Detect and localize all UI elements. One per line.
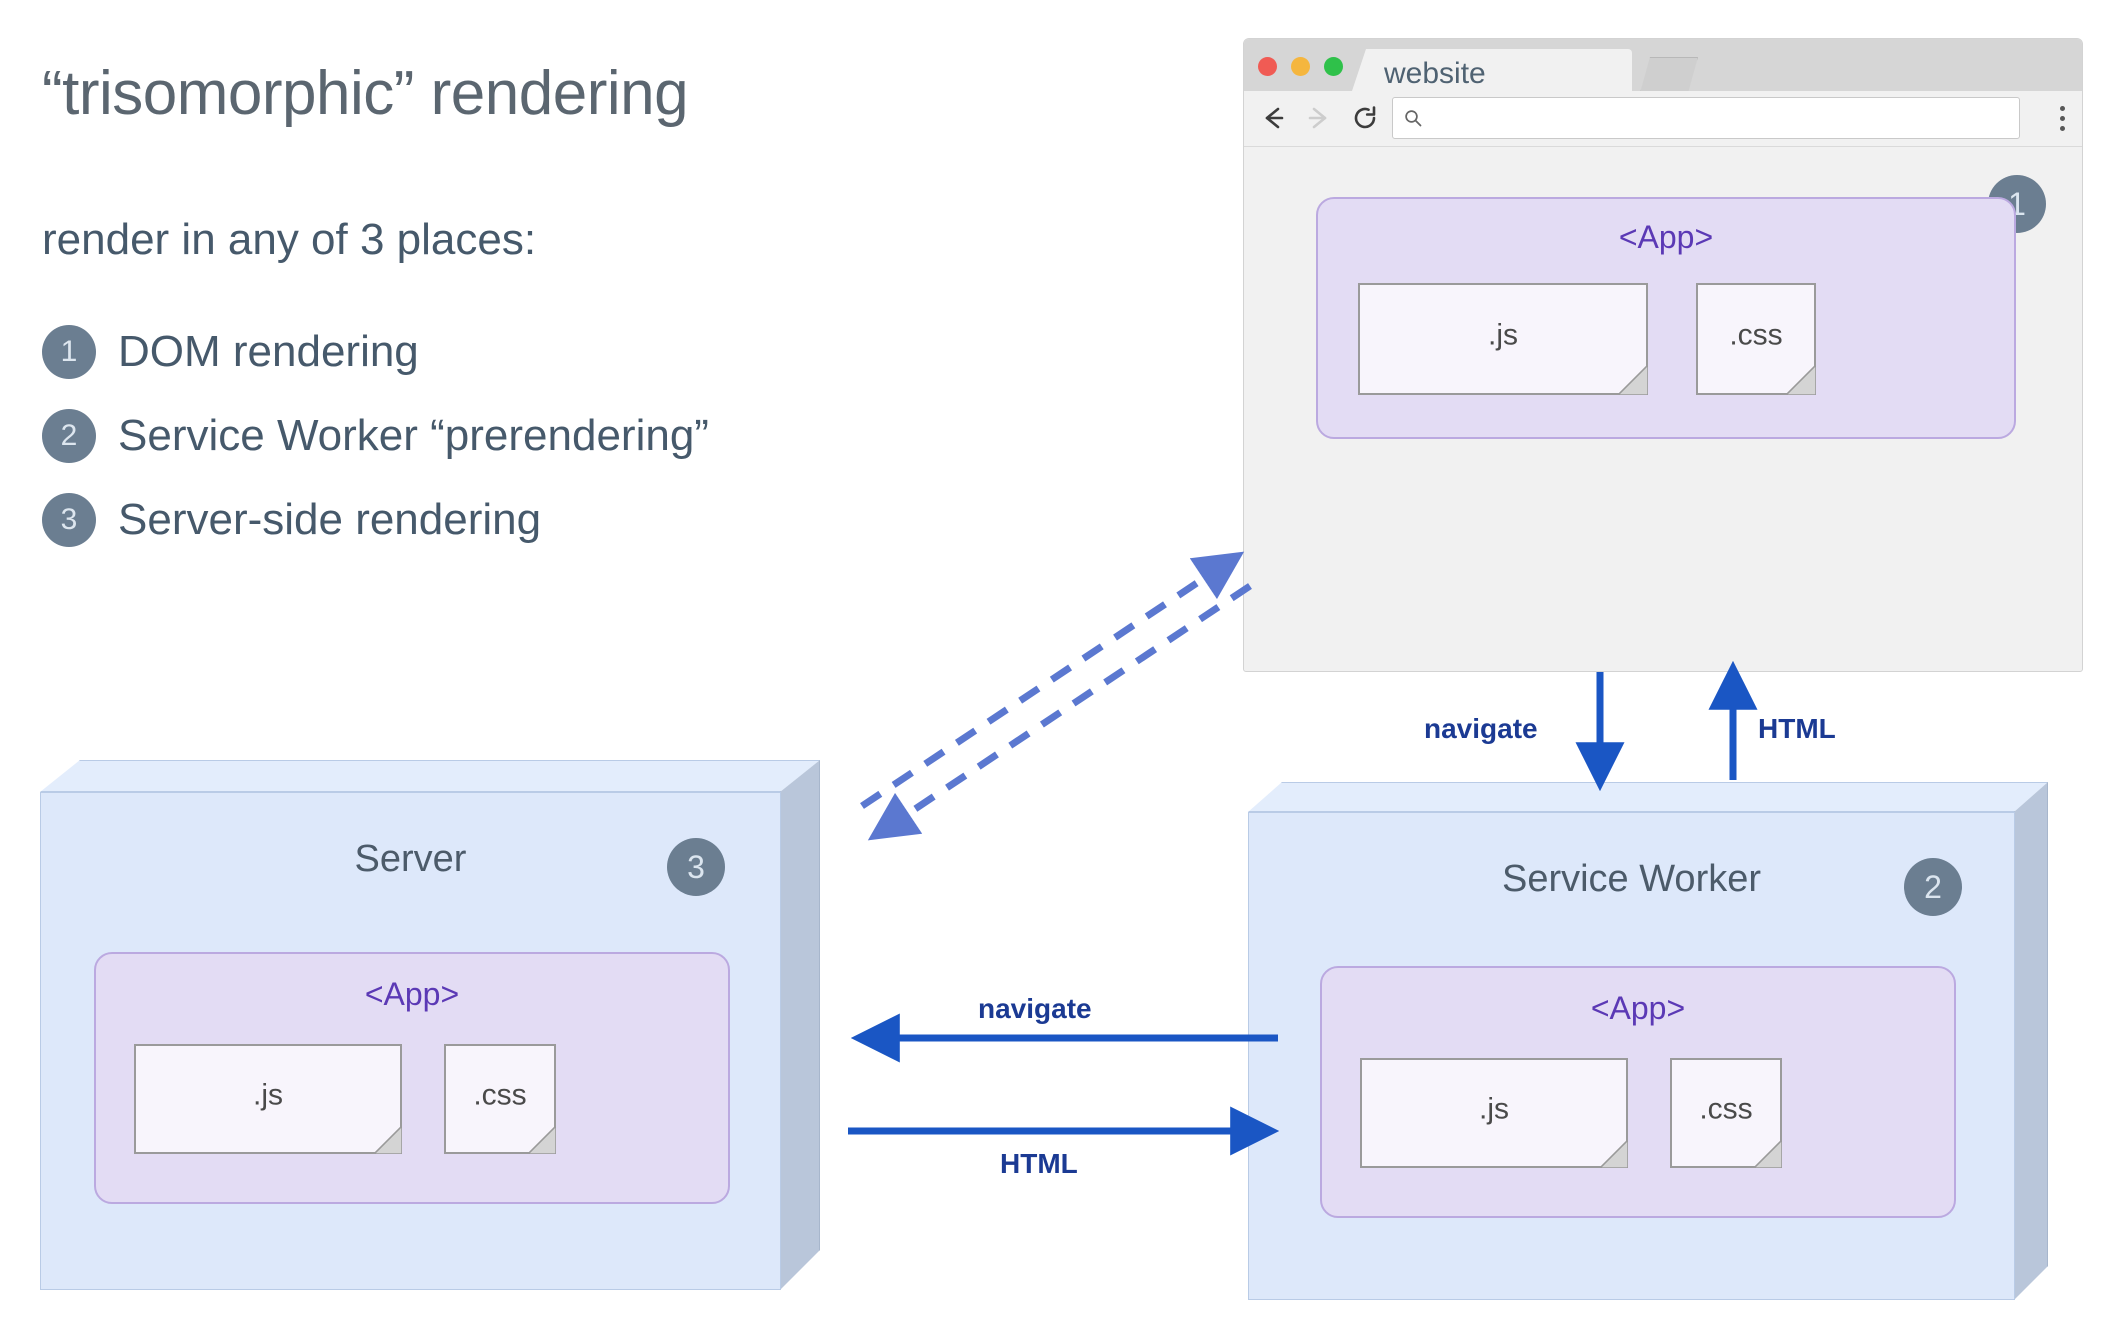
service-worker-box: Service Worker 2 <App> .js .css: [1248, 782, 2088, 1300]
overflow-menu-icon[interactable]: [2060, 106, 2066, 132]
window-close-button[interactable]: [1258, 57, 1277, 76]
diagram-canvas: “trisomorphic” rendering render in any o…: [0, 0, 2108, 1328]
doc-css-label: .css: [1672, 1093, 1780, 1127]
list-item: 1 DOM rendering: [42, 310, 709, 394]
new-tab-button[interactable]: [1640, 57, 1698, 93]
arrow-dashed-browser-to-server: [876, 586, 1250, 835]
browser-toolbar: [1244, 91, 2082, 147]
arrow-label-html-vertical: HTML: [1758, 713, 1836, 745]
arrow-dashed-server-to-browser: [862, 557, 1236, 806]
doc-css: .css: [444, 1044, 556, 1154]
page-title: “trisomorphic” rendering: [42, 58, 688, 129]
doc-css-label: .css: [1698, 319, 1814, 353]
list-item-badge: 2: [42, 409, 96, 463]
app-container-server: <App> .js .css: [94, 952, 730, 1204]
address-bar-input[interactable]: [1435, 98, 2011, 140]
sw-box-side: [2014, 782, 2048, 1300]
app-label: <App>: [1322, 990, 1954, 1027]
list-item-label: Service Worker “prerendering”: [118, 411, 709, 461]
back-arrow-icon[interactable]: [1256, 101, 1290, 135]
page-subtitle: render in any of 3 places:: [42, 215, 536, 265]
doc-css: .css: [1696, 283, 1816, 395]
app-label: <App>: [96, 976, 728, 1013]
arrow-label-navigate-horizontal: navigate: [978, 993, 1092, 1025]
list-item: 2 Service Worker “prerendering”: [42, 394, 709, 478]
doc-js-label: .js: [1360, 319, 1646, 353]
app-label: <App>: [1318, 219, 2014, 256]
service-worker-title: Service Worker: [1248, 858, 2015, 901]
doc-css-label: .css: [446, 1079, 554, 1113]
server-box-side: [780, 760, 820, 1290]
arrow-label-navigate-vertical: navigate: [1424, 713, 1538, 745]
doc-js-label: .js: [1362, 1093, 1626, 1127]
doc-css: .css: [1670, 1058, 1782, 1168]
doc-js: .js: [1358, 283, 1648, 395]
browser-window: website: [1243, 38, 2083, 672]
list-item: 3 Server-side rendering: [42, 478, 709, 562]
list-item-label: DOM rendering: [118, 327, 419, 377]
doc-js: .js: [134, 1044, 402, 1154]
server-box: Server 3 <App> .js .css: [40, 760, 860, 1290]
forward-arrow-icon[interactable]: [1302, 101, 1336, 135]
list-item-label: Server-side rendering: [118, 495, 541, 545]
browser-tabstrip: website: [1244, 39, 2082, 91]
list-item-badge: 1: [42, 325, 96, 379]
reload-icon[interactable]: [1348, 101, 1382, 135]
search-icon: [1403, 108, 1423, 128]
address-bar[interactable]: [1392, 97, 2020, 139]
list-item-badge: 3: [42, 493, 96, 547]
app-container-browser: <App> .js .css: [1316, 197, 2016, 439]
doc-js-label: .js: [136, 1079, 400, 1113]
doc-js: .js: [1360, 1058, 1628, 1168]
server-box-top: [40, 760, 820, 792]
status-badge-service-worker: 2: [1904, 858, 1962, 916]
arrow-label-html-horizontal: HTML: [1000, 1148, 1078, 1180]
status-badge-server: 3: [667, 838, 725, 896]
window-minimize-button[interactable]: [1291, 57, 1310, 76]
sw-box-top: [1248, 782, 2048, 812]
browser-tab-label: website: [1384, 57, 1486, 91]
window-maximize-button[interactable]: [1324, 57, 1343, 76]
app-container-service-worker: <App> .js .css: [1320, 966, 1956, 1218]
rendering-places-list: 1 DOM rendering 2 Service Worker “preren…: [42, 310, 709, 562]
